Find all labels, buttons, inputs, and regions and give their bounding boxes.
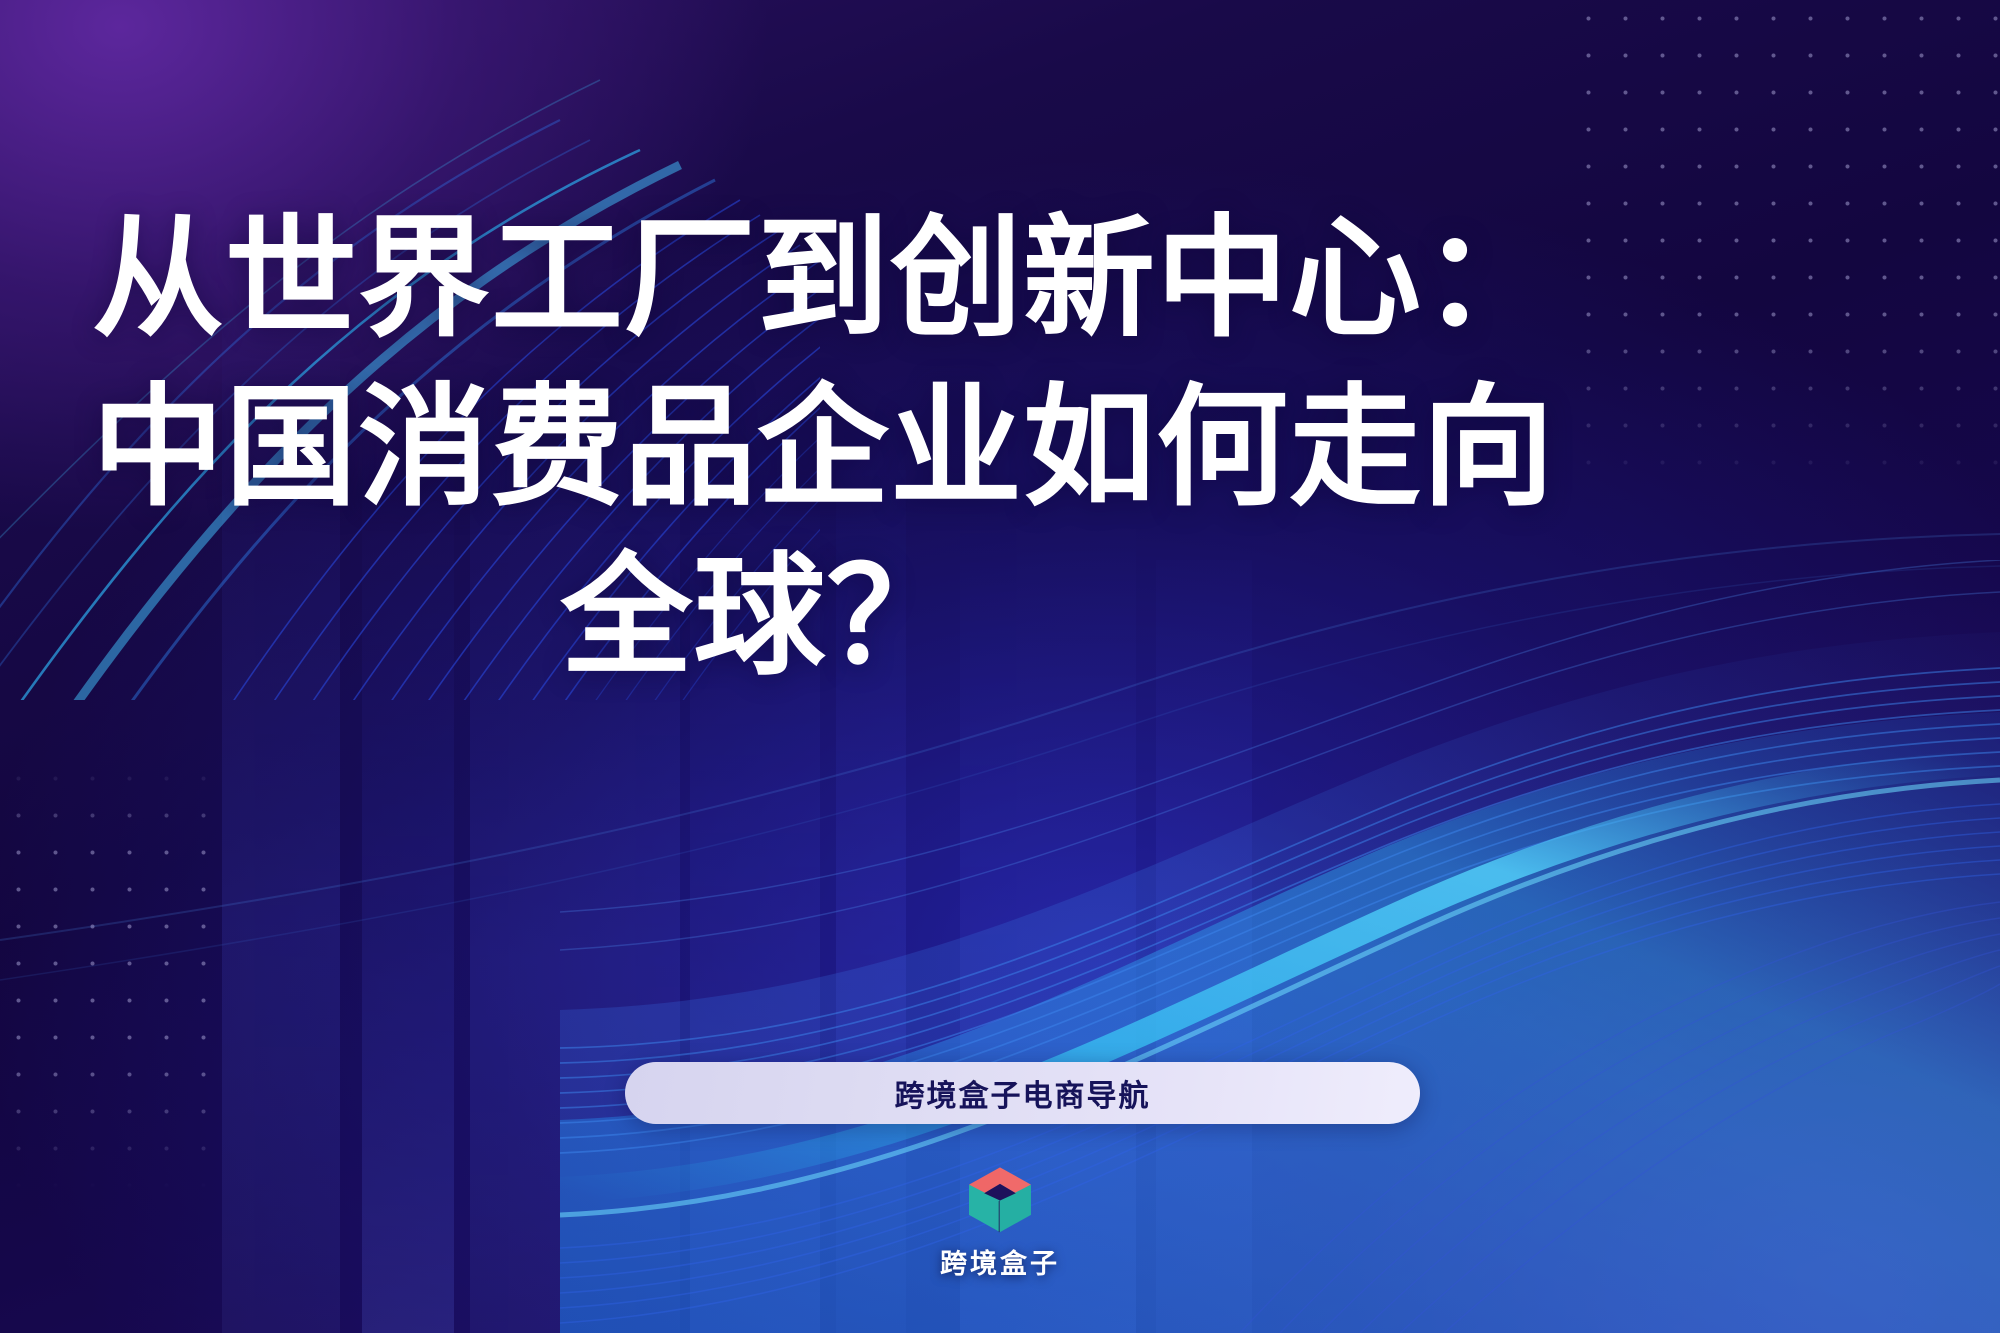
site-name-pill-label: 跨境盒子电商导航	[895, 1071, 1151, 1115]
cube-box-icon	[964, 1163, 1036, 1235]
site-name-pill[interactable]: 跨境盒子电商导航	[625, 1062, 1420, 1124]
poster-title: 从世界工厂到创新中心： 中国消费品企业如何走向 全球？	[0, 195, 2000, 702]
title-line-3: 全球？	[80, 533, 1920, 702]
poster-canvas: 从世界工厂到创新中心： 中国消费品企业如何走向 全球？ 跨境盒子电商导航 跨境盒…	[0, 0, 2000, 1333]
title-line-1: 从世界工厂到创新中心：	[80, 195, 1920, 364]
title-line-2: 中国消费品企业如何走向	[80, 364, 1920, 533]
dot-grid-left	[0, 760, 215, 1190]
brand-logo[interactable]: 跨境盒子	[0, 1163, 2000, 1281]
brand-wordmark: 跨境盒子	[940, 1242, 1060, 1281]
